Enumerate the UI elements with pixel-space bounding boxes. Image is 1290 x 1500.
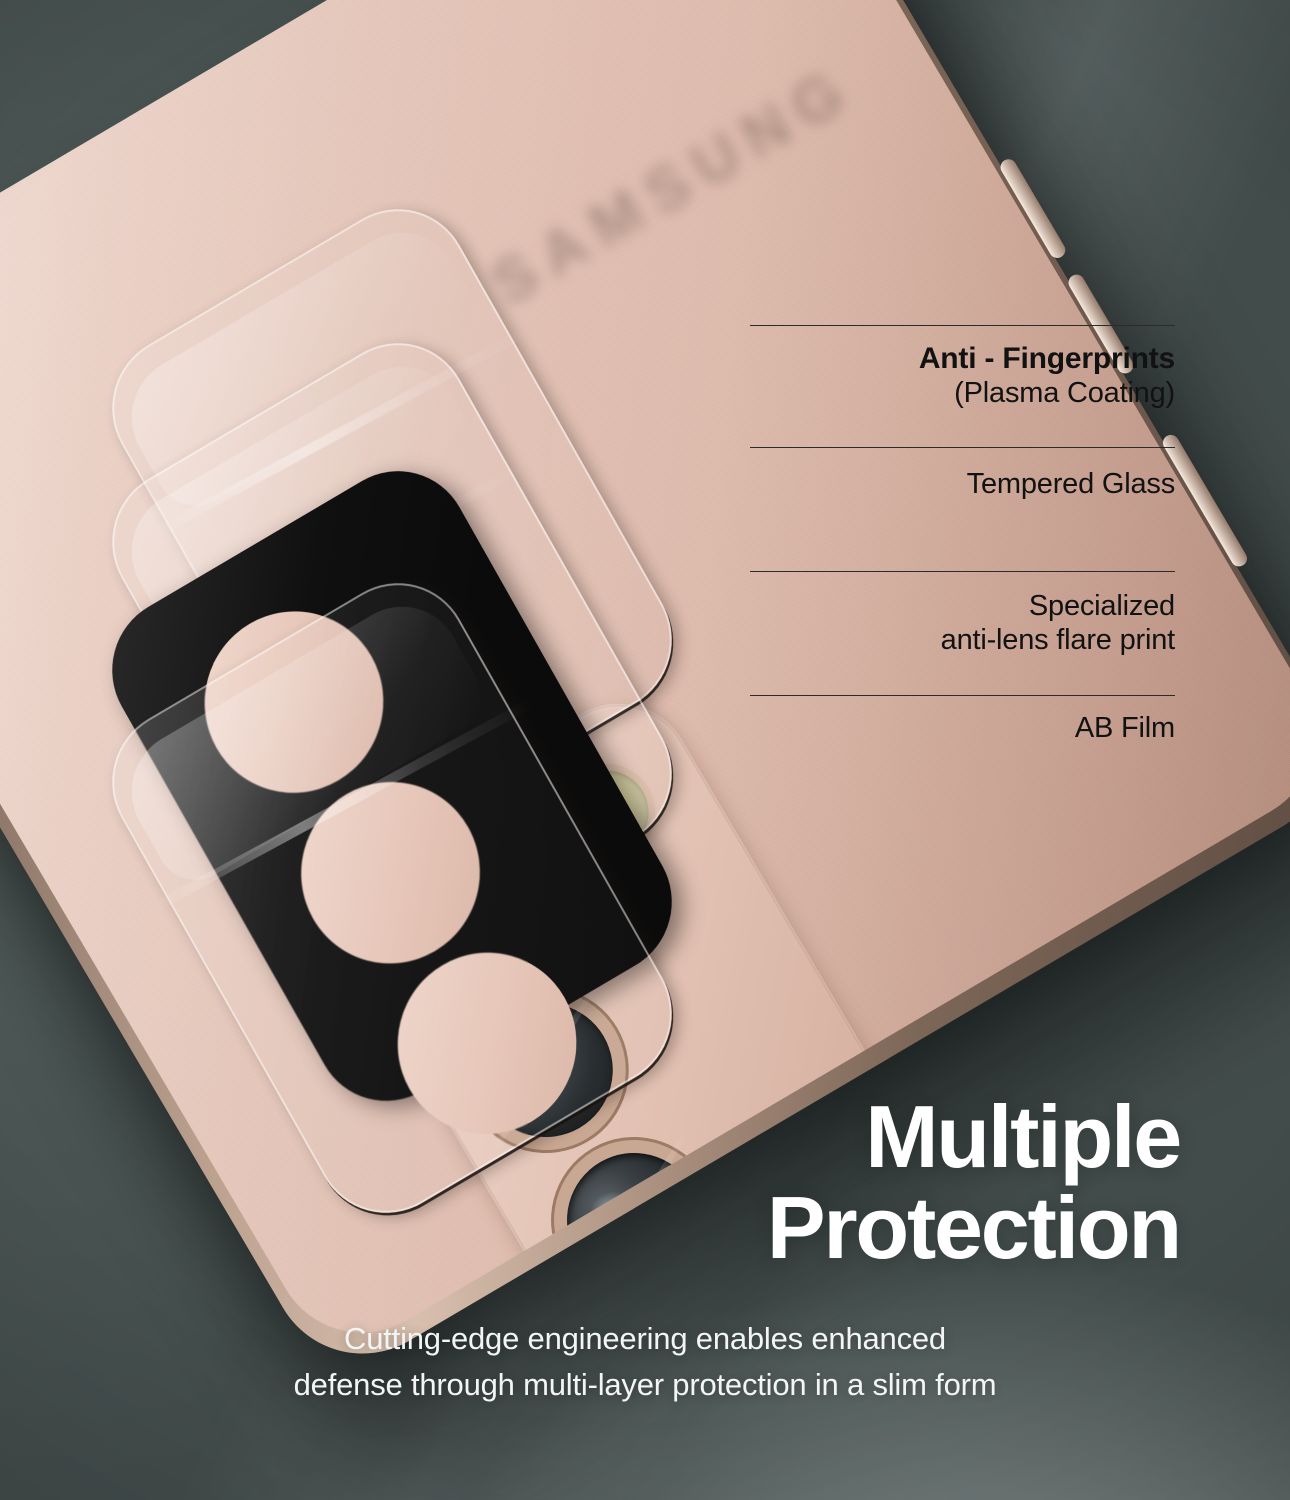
leader-line-anti-fingerprints <box>750 325 1175 326</box>
headline-line-2: Protection <box>767 1183 1180 1274</box>
leader-line-anti-lens-flare <box>750 571 1175 572</box>
headline: Multiple Protection <box>767 1092 1180 1273</box>
leader-line-tempered-glass <box>750 447 1175 448</box>
product-marketing-image: SAMSUNG <box>0 0 1290 1500</box>
callout-subtitle: anti-lens flare print <box>941 624 1175 658</box>
callout-anti-fingerprints: Anti - Fingerprints (Plasma Coating) <box>919 342 1175 410</box>
callout-ab-film: AB Film <box>1075 712 1175 746</box>
callout-title: Anti - Fingerprints <box>919 342 1175 377</box>
callout-title: AB Film <box>1075 712 1175 746</box>
callout-title: Specialized <box>941 590 1175 624</box>
callout-tempered-glass: Tempered Glass <box>967 468 1175 502</box>
callout-anti-lens-flare-print: Specialized anti-lens flare print <box>941 590 1175 657</box>
callout-title: Tempered Glass <box>967 468 1175 502</box>
callout-subtitle: (Plasma Coating) <box>919 377 1175 411</box>
subtitle-line-1: Cutting-edge engineering enables enhance… <box>0 1316 1290 1362</box>
subtitle-line-2: defense through multi-layer protection i… <box>0 1362 1290 1408</box>
headline-line-1: Multiple <box>767 1092 1180 1183</box>
leader-line-ab-film <box>750 695 1175 696</box>
subtitle: Cutting-edge engineering enables enhance… <box>0 1316 1290 1408</box>
